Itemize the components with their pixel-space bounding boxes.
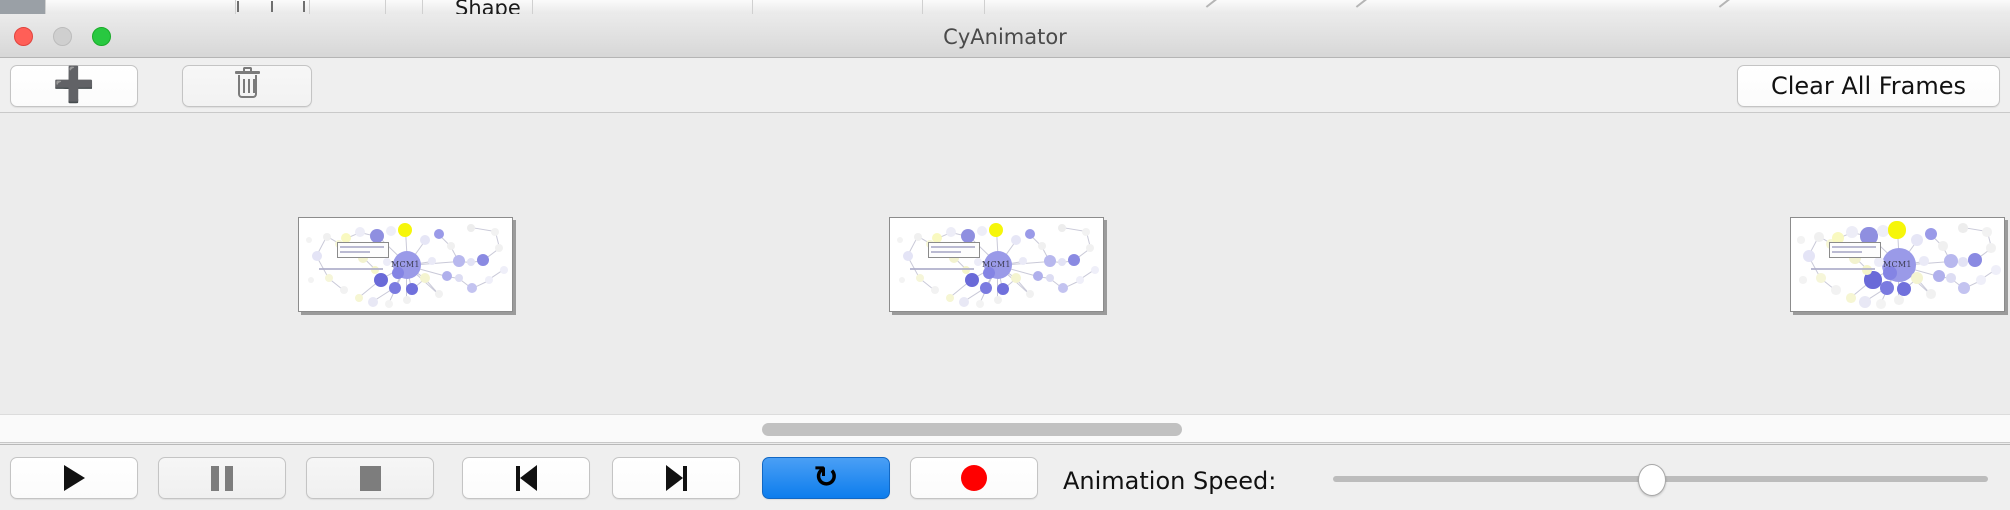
bg-tool-icon (303, 1, 305, 12)
network-node (989, 223, 1003, 237)
pause-button[interactable] (158, 457, 286, 499)
network-node (946, 227, 956, 237)
network-node (1797, 236, 1804, 243)
network-node (442, 271, 452, 281)
pause-icon (211, 466, 233, 491)
timeline-frame-thumbnail[interactable]: MCM1 (889, 217, 1104, 312)
play-icon (64, 465, 85, 491)
network-node (1033, 271, 1043, 281)
network-node (374, 273, 388, 287)
network-node (403, 296, 411, 304)
network-node (1019, 257, 1027, 265)
network-node (455, 274, 463, 282)
network-node (355, 227, 365, 237)
network-node (1880, 281, 1895, 296)
callout-text-line (1832, 251, 1862, 253)
network-node (386, 226, 396, 236)
network-node (1933, 270, 1945, 282)
network-node (495, 244, 503, 252)
node-callout-box (337, 242, 389, 258)
network-node (914, 233, 922, 241)
network-node (1968, 253, 1983, 268)
network-node (491, 228, 499, 236)
network-node (500, 266, 508, 274)
network-node (398, 223, 412, 237)
network-node (1011, 273, 1021, 283)
network-node (370, 229, 384, 243)
network-node (1888, 221, 1905, 238)
network-node (977, 226, 987, 236)
network-node (385, 300, 393, 308)
bg-segment (533, 0, 753, 14)
network-node (406, 283, 418, 295)
network-node (428, 257, 436, 265)
network-node (1897, 282, 1912, 297)
network-node (1082, 228, 1090, 236)
bg-tool-icon (271, 1, 273, 12)
network-node (1919, 256, 1929, 266)
network-node (1086, 244, 1094, 252)
play-button[interactable] (10, 457, 138, 499)
clear-all-frames-button[interactable]: Clear All Frames (1737, 65, 2000, 107)
network-node (1803, 250, 1815, 262)
network-node (434, 229, 444, 239)
network-node (1816, 273, 1826, 283)
network-node (1986, 243, 1996, 253)
network-hub-label: MCM1 (1883, 260, 1912, 269)
bg-segment (753, 0, 923, 14)
network-node (1026, 290, 1034, 298)
network-node (897, 237, 903, 243)
network-node (959, 297, 969, 307)
network-node (997, 283, 1009, 295)
timeline-frame-thumbnail[interactable]: MCM1 (298, 217, 513, 312)
network-node (325, 274, 333, 282)
network-node (1846, 293, 1856, 303)
network-node (974, 258, 982, 266)
timeline-frame-thumbnail[interactable]: MCM1 (1790, 217, 2005, 312)
network-node (1894, 295, 1904, 305)
network-node (355, 294, 363, 302)
bg-segment (985, 0, 2010, 14)
playback-control-bar: ↻ Animation Speed: (0, 444, 2010, 510)
bg-segment (46, 0, 236, 14)
network-node (312, 251, 322, 261)
network-node (306, 237, 312, 243)
bg-segment (310, 0, 386, 14)
network-node (899, 277, 905, 283)
network-graph-preview: MCM1 (890, 218, 1103, 311)
network-node (1958, 282, 1970, 294)
bg-segment (923, 0, 985, 14)
network-node (980, 282, 992, 294)
network-node (467, 283, 477, 293)
network-hub-label: MCM1 (391, 260, 420, 269)
callout-text-line (340, 246, 384, 248)
network-node (1926, 289, 1936, 299)
loop-button[interactable]: ↻ (762, 457, 890, 499)
next-frame-button[interactable] (612, 457, 740, 499)
network-node (994, 296, 1002, 304)
delete-frame-button[interactable] (182, 65, 312, 107)
network-node (420, 235, 430, 245)
network-node (1831, 285, 1841, 295)
network-node (1025, 229, 1035, 239)
bg-segment (0, 0, 46, 14)
network-node (1991, 265, 2001, 275)
network-node (467, 224, 475, 232)
network-node (961, 229, 975, 243)
bg-segment (236, 0, 310, 14)
network-node (1058, 224, 1066, 232)
network-node (1976, 275, 1986, 285)
network-node (1946, 273, 1956, 283)
clear-all-frames-label: Clear All Frames (1771, 72, 1966, 100)
skip-next-icon (666, 465, 687, 491)
network-graph-preview: MCM1 (299, 218, 512, 311)
network-node (467, 258, 475, 266)
network-graph-preview: MCM1 (1791, 218, 2004, 311)
network-node (903, 251, 913, 261)
add-frame-button[interactable]: ➕ (10, 65, 138, 107)
annotation-text-line (910, 268, 974, 270)
record-icon (961, 465, 987, 491)
network-node (1911, 234, 1923, 246)
network-node (1859, 296, 1871, 308)
network-node (323, 233, 331, 241)
network-node (1068, 254, 1080, 266)
animation-speed-label: Animation Speed: (1063, 467, 1276, 495)
network-node (976, 300, 984, 308)
network-node (1038, 242, 1046, 250)
network-node (383, 258, 391, 266)
network-node (368, 297, 378, 307)
trash-icon (235, 71, 260, 101)
network-hub-label: MCM1 (982, 260, 1011, 269)
network-node (1091, 266, 1099, 274)
network-node (1958, 223, 1968, 233)
background-window-strip: Shape (0, 0, 2010, 14)
network-node (447, 242, 455, 250)
bg-segment (386, 0, 423, 14)
page-title: CyAnimator (0, 25, 2010, 49)
callout-text-line (931, 251, 961, 253)
network-node (946, 294, 954, 302)
timeline-scrollbar-thumb[interactable] (762, 423, 1182, 436)
network-node (1944, 254, 1959, 269)
node-callout-box (928, 242, 980, 258)
network-node (389, 282, 401, 294)
network-node (1058, 283, 1068, 293)
network-node (1058, 258, 1066, 266)
network-node (916, 274, 924, 282)
timeline-panel[interactable]: MCM1MCM1MCM1 2131415161718 Seconds (0, 114, 2010, 414)
loop-icon: ↻ (813, 463, 838, 493)
annotation-text-line (1811, 268, 1875, 270)
network-node (1846, 226, 1858, 238)
network-node (420, 273, 430, 283)
network-node (965, 273, 979, 287)
animation-speed-slider-knob[interactable] (1638, 464, 1666, 496)
network-node (453, 255, 465, 267)
annotation-text-line (319, 268, 383, 270)
network-node (1799, 276, 1806, 283)
bg-shape-label: Shape (455, 0, 521, 14)
network-node (1958, 257, 1968, 267)
network-node (1982, 227, 1992, 237)
network-node (435, 290, 443, 298)
network-node (931, 286, 939, 294)
network-node (340, 286, 348, 294)
network-node (1938, 241, 1948, 251)
network-node (1046, 274, 1054, 282)
previous-frame-button[interactable] (462, 457, 590, 499)
network-node (1877, 225, 1889, 237)
plus-icon: ➕ (53, 74, 95, 98)
bg-tool-icon (237, 1, 239, 12)
record-button[interactable] (910, 457, 1038, 499)
network-node (485, 276, 493, 284)
network-node (477, 254, 489, 266)
callout-text-line (340, 251, 370, 253)
toolbar: ➕ Clear All Frames (0, 58, 2010, 113)
skip-previous-icon (516, 465, 537, 491)
callout-text-line (1832, 246, 1876, 248)
node-callout-box (1829, 242, 1881, 258)
network-node (1814, 232, 1824, 242)
stop-icon (360, 466, 381, 491)
network-node (1044, 255, 1056, 267)
callout-text-line (931, 246, 975, 248)
timeline-scrollbar[interactable] (0, 414, 2010, 443)
network-node (1076, 276, 1084, 284)
title-bar: CyAnimator (0, 14, 2010, 58)
stop-button[interactable] (306, 457, 434, 499)
network-node (1011, 235, 1021, 245)
network-node (1876, 299, 1886, 309)
network-node (308, 277, 314, 283)
